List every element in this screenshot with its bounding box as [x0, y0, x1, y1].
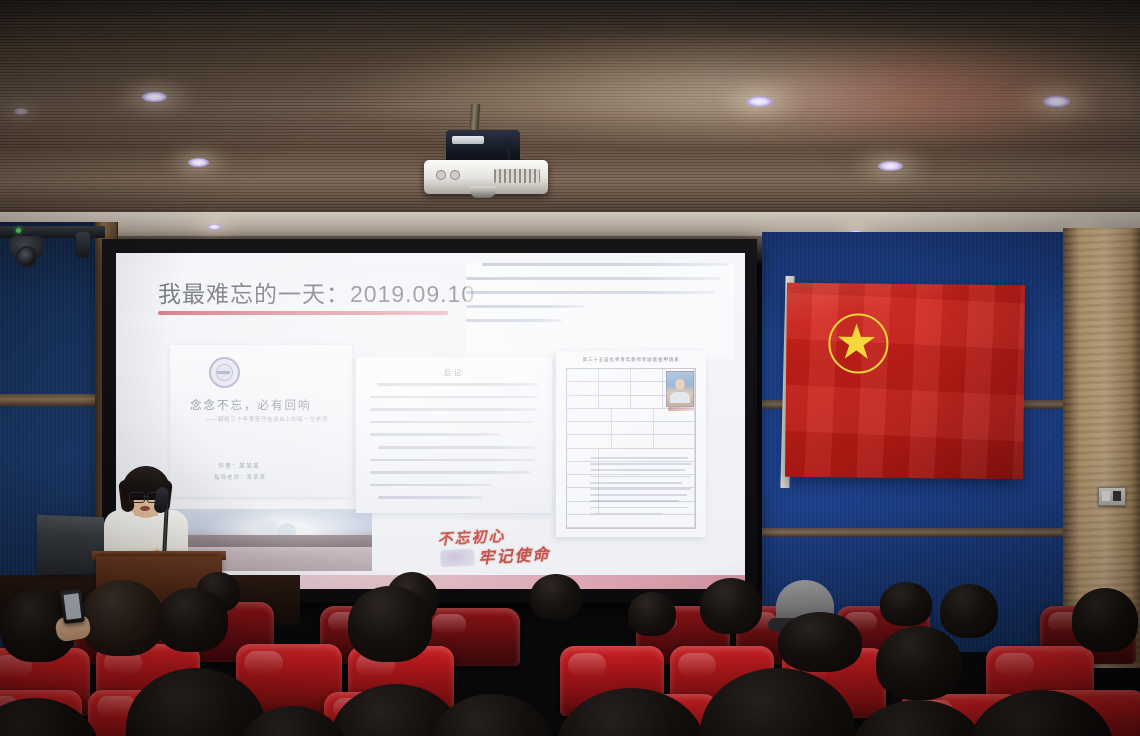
form-long-text-block — [590, 457, 694, 525]
left-card-subheading: ——献给三十年来坚守在讲台上的每一位老师 — [206, 415, 328, 423]
audience-head — [940, 584, 998, 638]
presenter-laptop[interactable] — [37, 515, 104, 576]
slide-left-card: 念念不忘，必有回响 ——献给三十年来坚守在讲台上的每一位老师 作者：某某某 指导… — [170, 345, 352, 497]
security-camera-icon — [10, 236, 44, 258]
audience-head — [156, 588, 228, 652]
downlight-icon — [207, 224, 222, 230]
projector-lens-icon — [470, 186, 496, 198]
projection-screen-surface: 我最难忘的一天：2019.09.10 念念不忘，必有回响 ——献给三十年来坚守在… — [116, 253, 745, 589]
light-switch[interactable] — [1098, 487, 1126, 506]
slide-title-row: 我最难忘的一天：2019.09.10 — [158, 275, 478, 309]
presentation-slide: 我最难忘的一天：2019.09.10 念念不忘，必有回响 ——献给三十年来坚守在… — [116, 253, 745, 589]
downlight-icon — [14, 108, 28, 115]
slide-title-underline — [158, 311, 448, 315]
projection-screen-frame: 我最难忘的一天：2019.09.10 念念不忘，必有回响 ——献给三十年来坚守在… — [102, 239, 757, 603]
slide-title: 我最难忘的一天：2019.09.10 — [158, 275, 478, 309]
audience-head — [348, 586, 432, 662]
university-seal-icon — [209, 357, 240, 388]
left-card-signature-1: 作者：某某某 — [218, 461, 260, 470]
audience-head — [876, 626, 962, 700]
left-card-signature-2: 指导老师：某某某 — [214, 473, 266, 481]
downlight-icon — [746, 96, 773, 107]
audience-head — [880, 582, 932, 626]
downlight-icon — [142, 92, 167, 102]
audience-head — [1072, 588, 1138, 652]
downlight-icon — [188, 158, 209, 167]
presenter-mouth — [140, 506, 150, 511]
spotlight-mount — [76, 232, 90, 258]
star-in-circle-emblem-icon — [828, 313, 889, 374]
slide-title-text: 我最难忘的一天： — [158, 281, 350, 307]
form-card-title: 第三十五届优秀青年教师奖励基金申请表 — [556, 357, 706, 363]
middle-card-body — [370, 383, 538, 509]
slide-form-card: 第三十五届优秀青年教师奖励基金申请表 — [556, 351, 706, 537]
audience-area — [0, 568, 1140, 736]
slide-slogan-watermark: 不忘初心 牢记使命 — [433, 521, 575, 574]
audience-head — [80, 580, 164, 656]
audience-head — [628, 592, 676, 636]
middle-card-title: 后记 — [356, 368, 552, 378]
lecture-hall-scene: 我最难忘的一天：2019.09.10 念念不忘，必有回响 ——献给三十年来坚守在… — [0, 0, 1140, 736]
form-name-field — [668, 407, 694, 411]
downlight-icon — [878, 161, 903, 171]
camera-status-led-icon — [16, 228, 21, 233]
form-id-photo — [666, 371, 694, 407]
audience-phone-camera[interactable] — [60, 589, 85, 624]
audience-head — [700, 578, 762, 634]
slide-title-date: 2019.09.10 — [350, 281, 475, 307]
audience-head — [778, 612, 862, 672]
downlight-icon — [1043, 96, 1070, 107]
slogan-line-2: 牢记使命 — [478, 541, 551, 569]
communist-youth-league-flag — [785, 283, 1025, 479]
left-card-heading: 念念不忘，必有回响 — [190, 397, 312, 413]
slide-middle-document-card: 后记 — [356, 357, 552, 513]
slogan-seal-icon — [440, 549, 475, 568]
handwritten-text-block — [466, 263, 734, 359]
audience-head — [530, 574, 582, 620]
